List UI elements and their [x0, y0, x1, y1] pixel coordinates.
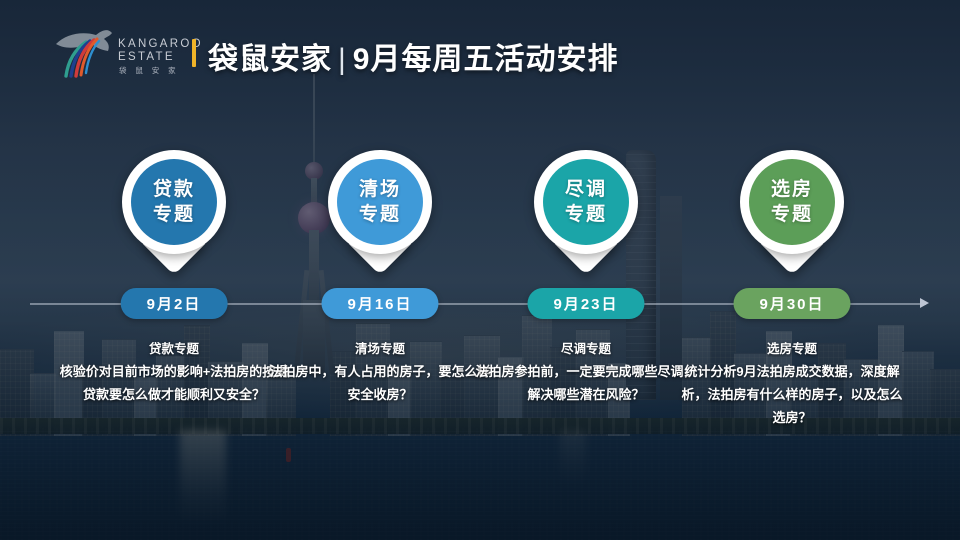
- milestone-description: 法拍房中，有人占用的房子，要怎么样安全收房？: [264, 360, 496, 406]
- brand-name: 袋鼠安家: [208, 43, 332, 76]
- milestone-subject: 尽调专题: [474, 338, 698, 360]
- title-separator: |: [332, 43, 353, 76]
- logo-chinese: 袋 鼠 安 家: [119, 65, 179, 76]
- milestone-description: 法拍房参拍前，一定要完成哪些尽调，解决哪些潜在风险？: [470, 360, 702, 406]
- slide-canvas: KANGAROO ESTATE 袋 鼠 安 家 袋鼠安家|9月每周五活动安排 贷…: [0, 0, 960, 540]
- milestone-pin-label: 贷款 专题: [122, 150, 226, 254]
- milestone-pin-label: 选房 专题: [740, 150, 844, 254]
- milestone-subject: 贷款专题: [62, 338, 286, 360]
- milestone-description: 核验价对目前市场的影响+法拍房的按揭贷款要怎么做才能顺利又安全？: [58, 360, 290, 406]
- milestone-pin-label: 清场 专题: [328, 150, 432, 254]
- header: KANGAROO ESTATE 袋 鼠 安 家 袋鼠安家|9月每周五活动安排: [0, 0, 960, 100]
- milestone-pin[interactable]: 贷款 专题: [122, 150, 226, 280]
- milestone-pin[interactable]: 尽调 专题: [534, 150, 638, 280]
- milestone-description: 统计分析9月法拍房成交数据，深度解析，法拍房有什么样的房子，以及怎么选房？: [676, 360, 908, 429]
- page-title: 袋鼠安家|9月每周五活动安排: [208, 34, 618, 78]
- timeline-arrow-right-icon: [920, 298, 929, 308]
- milestone-pin[interactable]: 清场 专题: [328, 150, 432, 280]
- milestone-date-badge[interactable]: 9月23日: [527, 288, 644, 319]
- milestone-subject: 选房专题: [680, 338, 904, 360]
- kangaroo-logo-icon: KANGAROO ESTATE 袋 鼠 安 家: [52, 24, 184, 80]
- milestone-date-badge[interactable]: 9月2日: [121, 288, 228, 319]
- title-subtitle: 9月每周五活动安排: [353, 43, 619, 76]
- milestone-subject: 清场专题: [268, 338, 492, 360]
- logo-english: KANGAROO ESTATE: [118, 38, 203, 64]
- milestone-date-badge[interactable]: 9月30日: [733, 288, 850, 319]
- milestone-date-badge[interactable]: 9月16日: [321, 288, 438, 319]
- milestone-pin-label: 尽调 专题: [534, 150, 638, 254]
- title-accent-bar: [192, 39, 196, 67]
- milestone-pin[interactable]: 选房 专题: [740, 150, 844, 280]
